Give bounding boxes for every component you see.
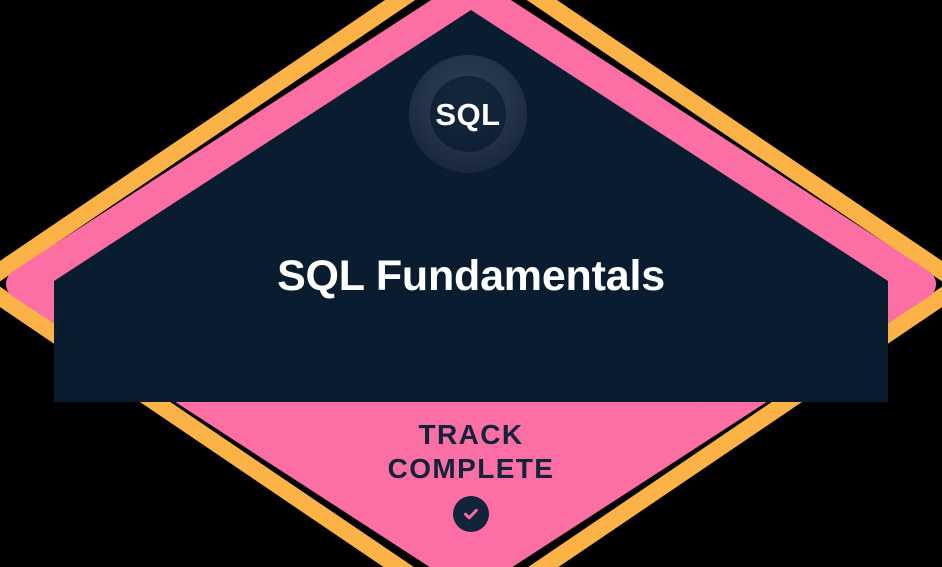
sql-emblem: SQL [409,55,527,173]
track-title: SQL Fundamentals [0,252,942,301]
status-line-track: TRACK [0,418,942,452]
completion-status: TRACK COMPLETE [0,418,942,532]
status-line-complete: COMPLETE [0,452,942,486]
track-completion-badge: SQL SQL Fundamentals TRACK COMPLETE [0,0,942,567]
check-circle-icon [453,496,489,532]
emblem-label: SQL [409,55,527,173]
